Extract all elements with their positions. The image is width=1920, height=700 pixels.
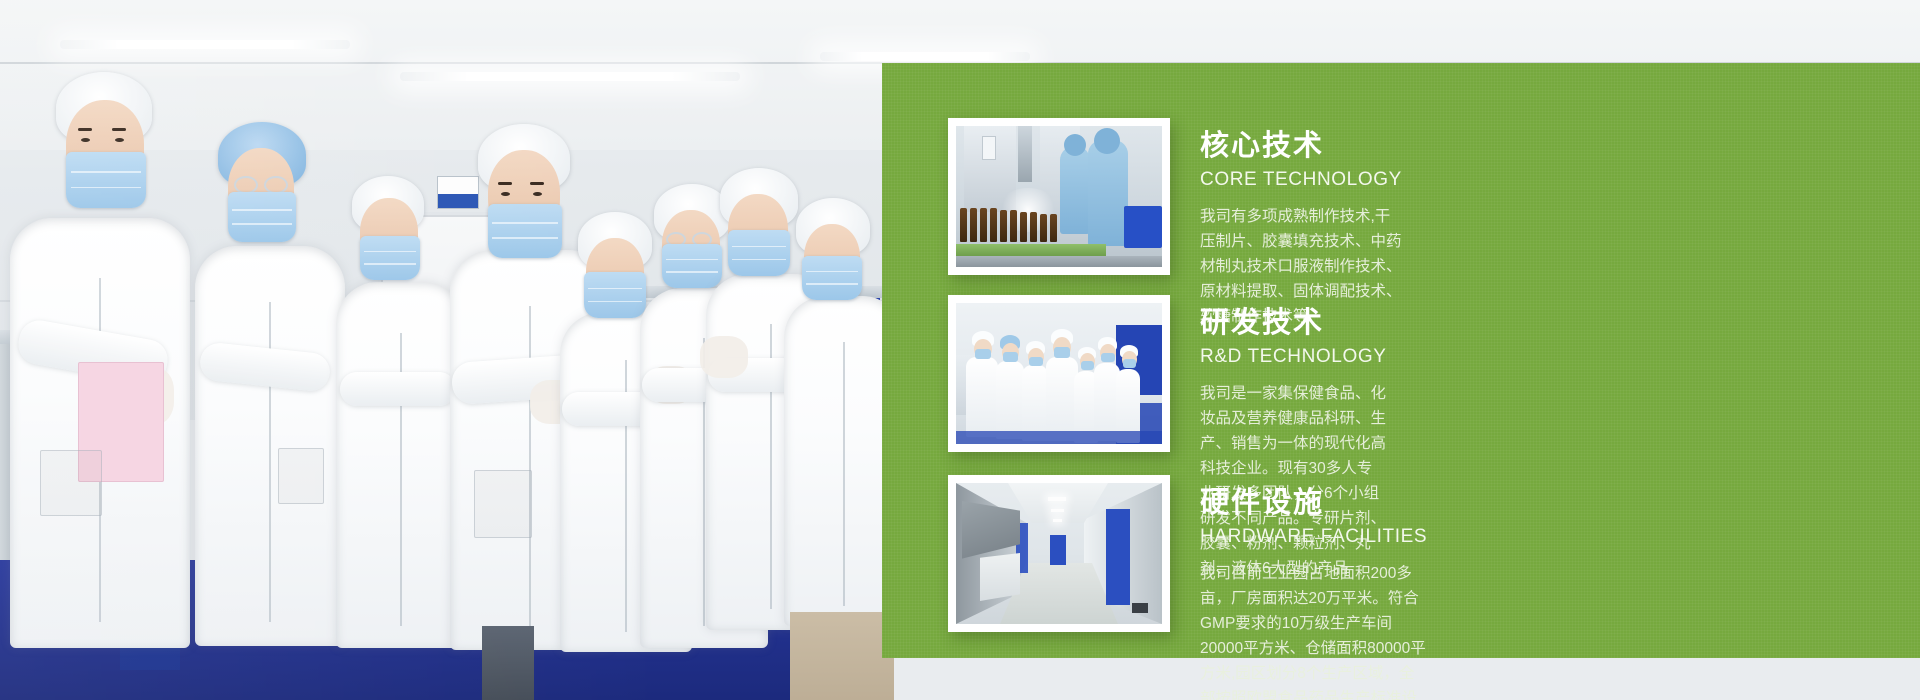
thumbnail-image-core-technology — [956, 126, 1162, 267]
feature-body: 我司目前工业园占地面积200多亩，厂房面积达20万平米。符合GMP要求的10万级… — [1200, 561, 1427, 700]
feature-title-cn: 研发技术 — [1200, 307, 1386, 340]
feature-title-en: HARDWARE FACILITIES — [1200, 526, 1427, 549]
feature-thumbnail-frame[interactable] — [948, 475, 1170, 632]
feature-title-cn: 核心技术 — [1200, 130, 1402, 163]
feature-text-hardware-facilities: 硬件设施 HARDWARE FACILITIES 我司目前工业园占地面积200多… — [1200, 487, 1427, 700]
feature-title-en: R&D TECHNOLOGY — [1200, 346, 1386, 369]
thumbnail-image-hardware-facilities — [956, 483, 1162, 624]
feature-title-cn: 硬件设施 — [1200, 487, 1427, 520]
feature-text-core-technology: 核心技术 CORE TECHNOLOGY 我司有多项成熟制作技术,干压制片、胶囊… — [1200, 130, 1402, 329]
content-panel: 核心技术 CORE TECHNOLOGY 我司有多项成熟制作技术,干压制片、胶囊… — [882, 63, 1920, 658]
feature-title-en: CORE TECHNOLOGY — [1200, 169, 1402, 192]
feature-thumbnail-frame[interactable] — [948, 118, 1170, 275]
feature-thumbnail-frame[interactable] — [948, 295, 1170, 452]
thumbnail-image-rd-technology — [956, 303, 1162, 444]
